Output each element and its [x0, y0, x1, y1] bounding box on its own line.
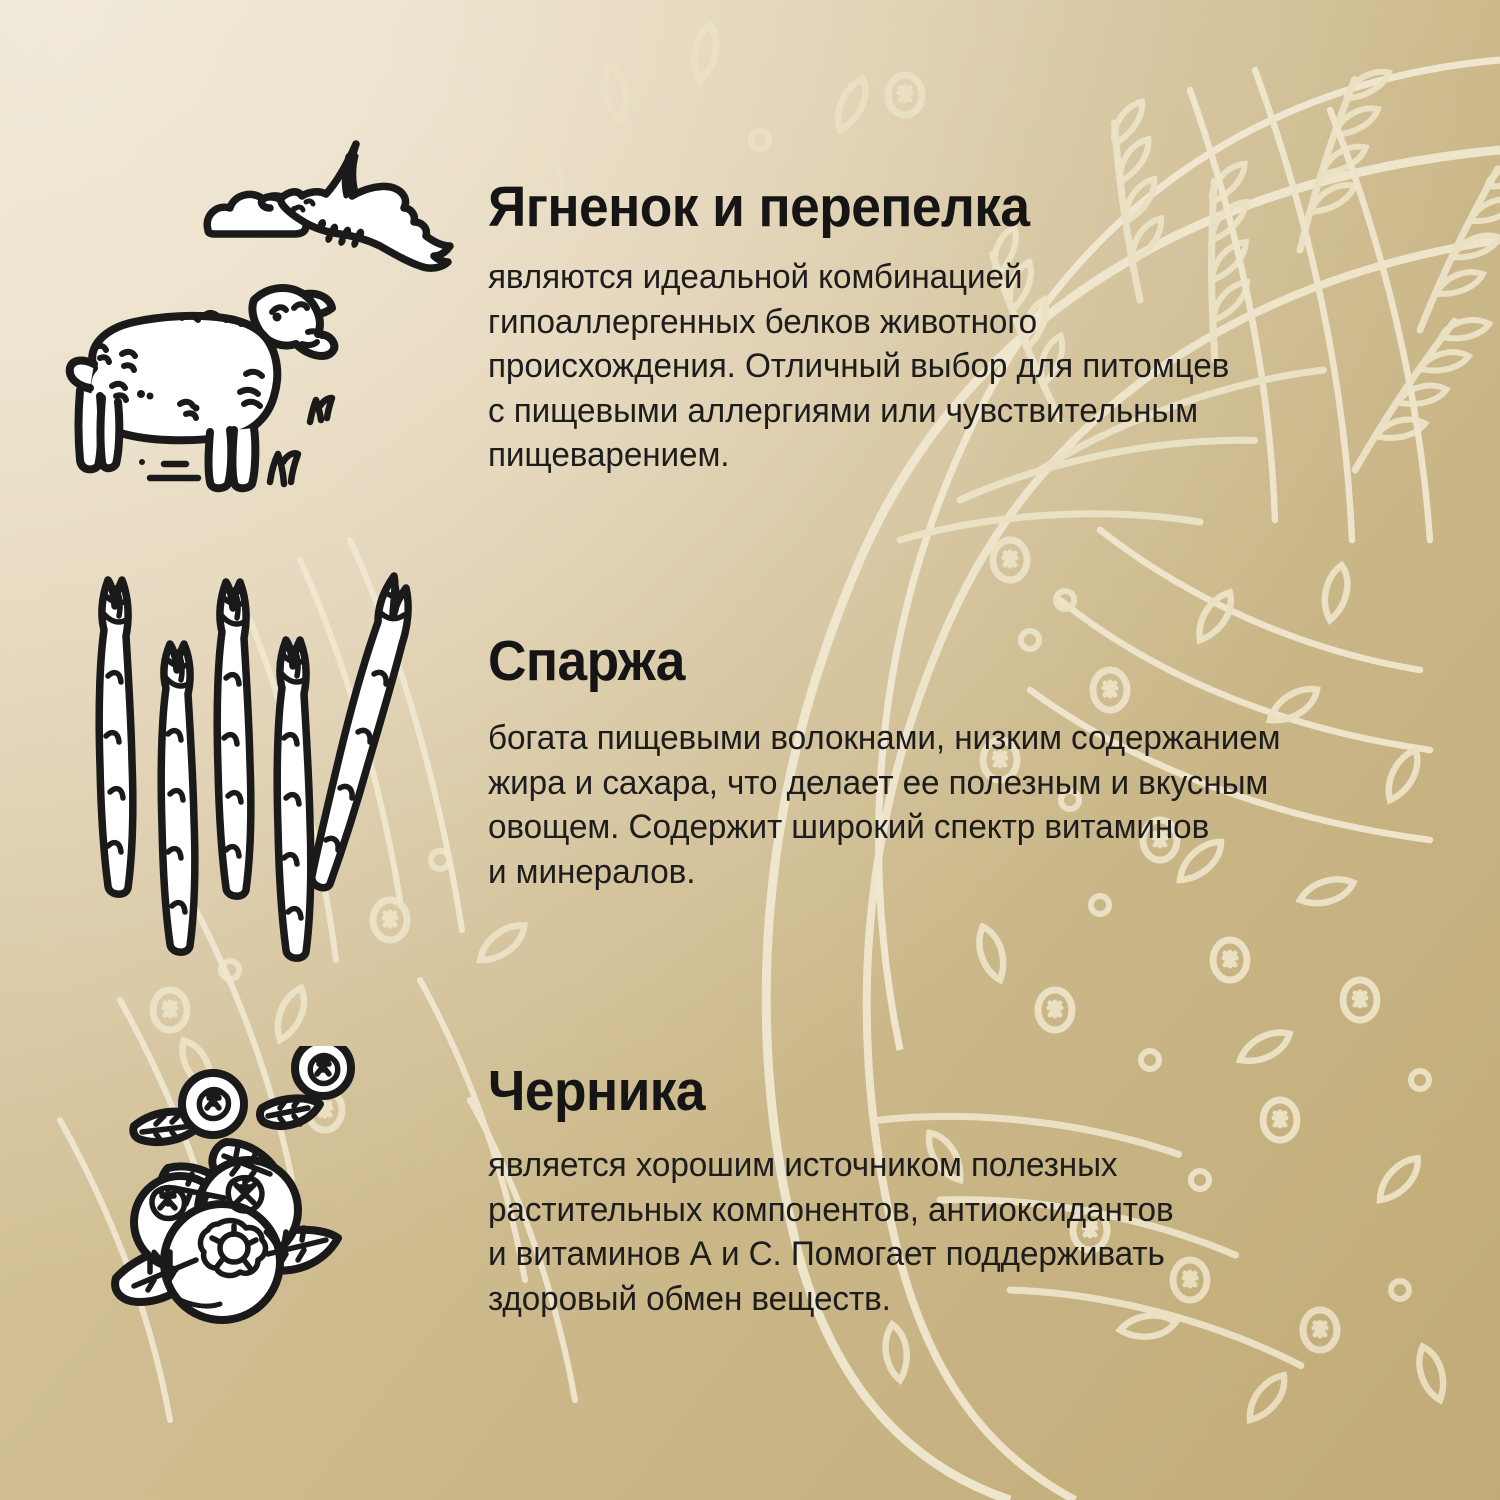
asparagus-illustration	[78, 566, 418, 966]
blueberry-illustration	[108, 1046, 408, 1346]
body-line: являются идеальной комбинацией	[488, 255, 1229, 300]
body-line: богата пищевыми волокнами, низким содерж…	[488, 716, 1280, 761]
body-blueberry: является хорошим источником полезных рас…	[488, 1143, 1174, 1321]
body-line: и минералов.	[488, 850, 1280, 895]
body-asparagus: богата пищевыми волокнами, низким содерж…	[488, 716, 1280, 894]
text-column-lamb: Ягненок и перепелка являются идеальной к…	[488, 178, 1256, 478]
body-line: и витаминов А и С. Помогает поддерживать	[488, 1232, 1174, 1277]
heading-asparagus: Спаржа	[488, 632, 1256, 691]
body-line: пищеварением.	[488, 433, 1229, 478]
body-line: жира и сахара, что делает ее полезным и …	[488, 761, 1280, 806]
body-lamb-quail: являются идеальной комбинацией гипоаллер…	[488, 255, 1229, 478]
body-line: происхождения. Отличный выбор для питомц…	[488, 344, 1229, 389]
body-line: гипоаллергенных белков животного	[488, 300, 1229, 345]
body-line: овощем. Содержит широкий спектр витамино…	[488, 805, 1280, 850]
lamb-illustration	[58, 272, 358, 500]
quail-illustration	[198, 104, 460, 279]
text-column-blueberry: Черника является хорошим источником поле…	[488, 1062, 1198, 1321]
body-line: с пищевыми аллергиями или чувствительным	[488, 389, 1229, 434]
body-line: растительных компонентов, антиоксидантов	[488, 1188, 1174, 1233]
sections-container: Ягненок и перепелка являются идеальной к…	[0, 0, 1500, 1500]
body-line: является хорошим источником полезных	[488, 1143, 1174, 1188]
heading-blueberry: Черника	[488, 1062, 1152, 1121]
infographic-page: Ягненок и перепелка являются идеальной к…	[0, 0, 1500, 1500]
text-column-asparagus: Спаржа богата пищевыми волокнами, низким…	[488, 632, 1309, 894]
heading-lamb-quail: Ягненок и перепелка	[488, 178, 1206, 237]
body-line: здоровый обмен веществ.	[488, 1277, 1174, 1322]
